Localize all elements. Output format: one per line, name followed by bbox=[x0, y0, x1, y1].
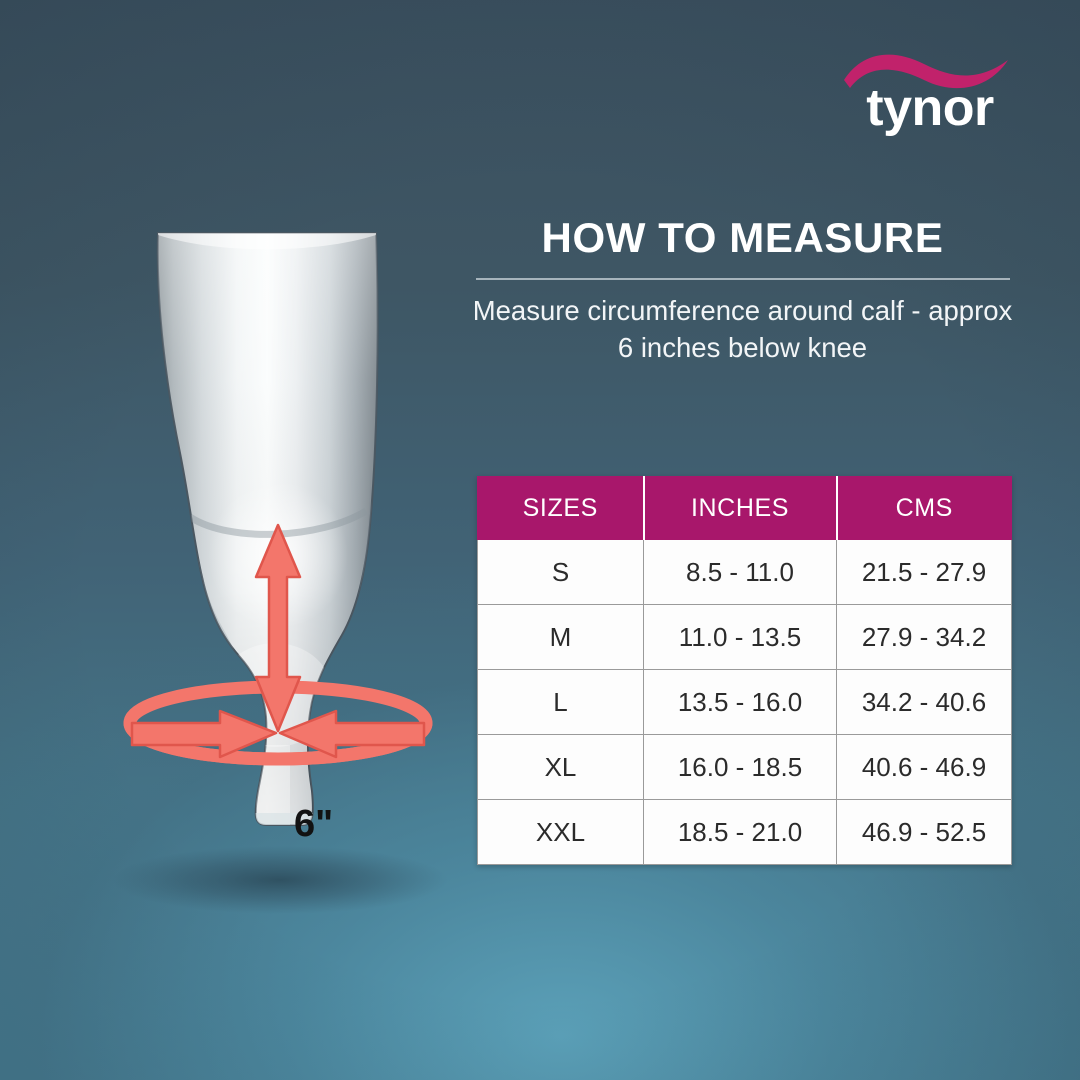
size-chart-table: SIZES INCHES CMS S 8.5 - 11.0 21.5 - 27.… bbox=[477, 476, 1012, 865]
cell-cms: 21.5 - 27.9 bbox=[837, 540, 1012, 605]
table-header-row: SIZES INCHES CMS bbox=[478, 477, 1012, 540]
cell-inches: 13.5 - 16.0 bbox=[644, 670, 837, 735]
brand-wordmark: tynor bbox=[840, 82, 1020, 134]
cell-size: XXL bbox=[478, 800, 644, 865]
leg-knee-calf-illustration bbox=[70, 225, 490, 925]
size-guide-page: 6" tynor HOW TO MEASURE Measure circumfe… bbox=[0, 0, 1080, 1080]
cell-size: XL bbox=[478, 735, 644, 800]
table-row: XXL 18.5 - 21.0 46.9 - 52.5 bbox=[478, 800, 1012, 865]
column-header-sizes: SIZES bbox=[478, 477, 644, 540]
brand-logo[interactable]: tynor bbox=[840, 44, 1020, 154]
cell-inches: 18.5 - 21.0 bbox=[644, 800, 837, 865]
cell-cms: 40.6 - 46.9 bbox=[837, 735, 1012, 800]
cell-cms: 34.2 - 40.6 bbox=[837, 670, 1012, 735]
cell-inches: 16.0 - 18.5 bbox=[644, 735, 837, 800]
cell-cms: 27.9 - 34.2 bbox=[837, 605, 1012, 670]
dimension-label-6in: 6" bbox=[294, 805, 333, 843]
cell-cms: 46.9 - 52.5 bbox=[837, 800, 1012, 865]
cell-size: S bbox=[478, 540, 644, 605]
column-header-inches: INCHES bbox=[644, 477, 837, 540]
table-row: XL 16.0 - 18.5 40.6 - 46.9 bbox=[478, 735, 1012, 800]
floor-shadow bbox=[112, 846, 448, 914]
column-header-cms: CMS bbox=[837, 477, 1012, 540]
table-row: L 13.5 - 16.0 34.2 - 40.6 bbox=[478, 670, 1012, 735]
page-subtitle: Measure circumference around calf - appr… bbox=[468, 292, 1017, 366]
table-row: S 8.5 - 11.0 21.5 - 27.9 bbox=[478, 540, 1012, 605]
cell-inches: 11.0 - 13.5 bbox=[644, 605, 837, 670]
leg-illustration-group: 6" bbox=[70, 225, 490, 925]
cell-size: M bbox=[478, 605, 644, 670]
table-row: M 11.0 - 13.5 27.9 - 34.2 bbox=[478, 605, 1012, 670]
page-title: HOW TO MEASURE bbox=[470, 216, 1015, 260]
cell-size: L bbox=[478, 670, 644, 735]
title-divider bbox=[476, 278, 1010, 280]
cell-inches: 8.5 - 11.0 bbox=[644, 540, 837, 605]
